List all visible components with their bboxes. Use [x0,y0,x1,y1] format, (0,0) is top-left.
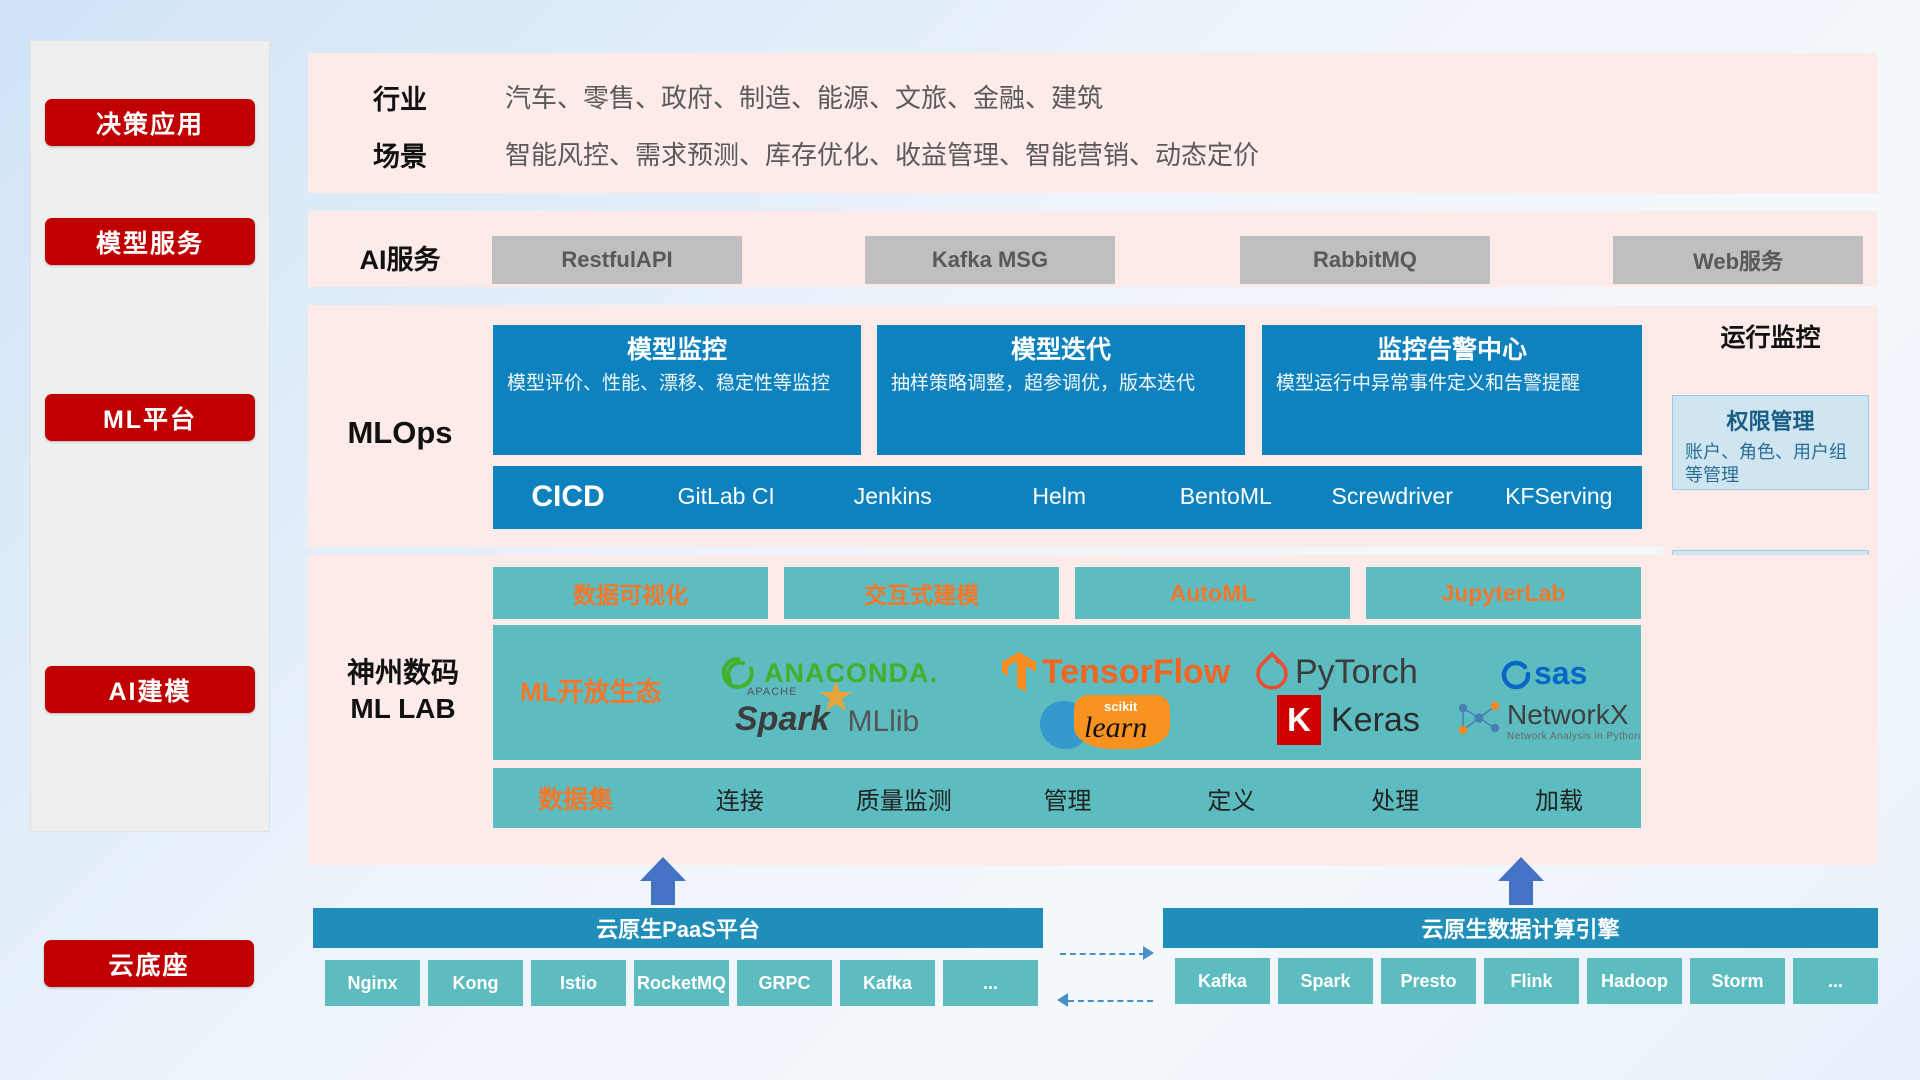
card-title: 监控告警中心 [1276,335,1628,365]
chip-label: RabbitMQ [1313,247,1417,273]
ml-eco-label: ML开放生态 [520,672,662,709]
scene-value: 智能风控、需求预测、库存优化、收益管理、智能营销、动态定价 [505,135,1259,172]
paas-chip-kafka[interactable]: Kafka [840,960,935,1006]
cicd-item-bentoml[interactable]: BentoML [1143,466,1310,508]
spark-text: Spark [735,700,830,739]
rail-label: AI建模 [108,672,191,708]
chip-label: ... [1828,972,1843,991]
spark-mllib-logo: APACHE Spark MLlib [735,700,919,739]
engine-chip-kafka[interactable]: Kafka [1175,958,1270,1004]
paas-chip-istio[interactable]: Istio [531,960,626,1006]
dataset-item-process[interactable]: 处理 [1313,781,1477,816]
scene-label: 场景 [345,135,455,174]
dataset-item-load[interactable]: 加载 [1477,781,1641,816]
networkx-text: NetworkX [1507,699,1641,731]
ml-lab-name-line1: 神州数码 [318,655,488,691]
dataset-row: 数据集 连接 质量监测 管理 定义 处理 加载 [493,768,1641,828]
ai-service-chip-kafka-msg[interactable]: Kafka MSG [865,236,1115,284]
dataset-item-define[interactable]: 定义 [1149,781,1313,816]
chip-label: Istio [560,974,597,993]
chip-label: RocketMQ [637,974,726,993]
lab-chip-jupyterlab[interactable]: JupyterLab [1366,567,1641,619]
mllib-text: MLlib [848,705,920,739]
lab-chip-automl[interactable]: AutoML [1075,567,1350,619]
chip-label: RestfulAPI [561,247,672,273]
pytorch-text: PyTorch [1295,653,1418,692]
cicd-item-kfserving[interactable]: KFServing [1476,466,1643,508]
networkx-tagline: Network Analysis in Python [1507,731,1641,742]
industry-scene-band [308,53,1878,193]
ml-lab-name: 神州数码 ML LAB [318,655,488,728]
ai-service-chip-web[interactable]: Web服务 [1613,236,1863,284]
paas-chip-kong[interactable]: Kong [428,960,523,1006]
mlops-card-model-monitor[interactable]: 模型监控 模型评价、性能、漂移、稳定性等监控 [493,325,861,455]
rail-item-ai-modeling[interactable]: AI建模 [45,666,255,713]
cicd-bar: CICD GitLab CI Jenkins Helm BentoML Scre… [493,466,1642,529]
tensorflow-text: TensorFlow [1042,653,1230,692]
monitoring-card-permission[interactable]: 权限管理 账户、角色、用户组等管理 [1672,395,1869,490]
rail-label: 模型服务 [96,224,204,260]
industry-label: 行业 [345,78,455,117]
monitoring-title: 运行监控 [1663,318,1878,354]
mlops-card-model-iteration[interactable]: 模型迭代 抽样策略调整，超参调优，版本迭代 [877,325,1245,455]
engine-chip-flink[interactable]: Flink [1484,958,1579,1004]
ai-service-chip-restfulapi[interactable]: RestfulAPI [492,236,742,284]
engine-chip-presto[interactable]: Presto [1381,958,1476,1004]
scikit-learn-logo: scikit learn [1040,695,1230,750]
chip-label: AutoML [1170,580,1256,607]
rail-label: ML平台 [103,400,197,436]
card-desc: 抽样策略调整，超参调优，版本迭代 [891,371,1231,397]
keras-text: Keras [1331,701,1420,740]
rail-item-ml-platform[interactable]: ML平台 [45,394,255,441]
chip-label: Presto [1400,972,1456,991]
dataset-label: 数据集 [493,780,658,816]
chip-label: Hadoop [1601,972,1668,991]
chip-label: 交互式建模 [864,576,979,610]
paas-chip-rocketmq[interactable]: RocketMQ [634,960,729,1006]
ai-service-label: AI服务 [340,238,460,277]
rail-item-decision-app[interactable]: 决策应用 [45,99,255,146]
ml-lab-name-line2: ML LAB [318,691,488,727]
chip-label: Web服务 [1693,244,1783,276]
chip-label: GRPC [758,974,810,993]
chip-label: 数据可视化 [573,576,688,610]
rail-item-model-service[interactable]: 模型服务 [45,218,255,265]
learn-text: learn [1084,711,1147,745]
engine-chip-more[interactable]: ... [1793,958,1878,1004]
rail-label: 云底座 [108,946,189,982]
pytorch-mark [1255,652,1289,692]
left-rail: 决策应用 模型服务 ML平台 AI建模 [30,40,270,832]
industry-value: 汽车、零售、政府、制造、能源、文旅、金融、建筑 [505,78,1103,115]
cicd-item-screwdriver[interactable]: Screwdriver [1309,466,1476,508]
keras-mark: K [1277,695,1321,745]
chip-label: ... [983,974,998,993]
chip-label: Kafka MSG [932,247,1048,273]
card-title: 模型迭代 [891,335,1231,365]
spark-apache-text: APACHE [747,686,797,698]
ai-service-chip-rabbitmq[interactable]: RabbitMQ [1240,236,1490,284]
dataset-item-quality[interactable]: 质量监测 [822,781,986,816]
cicd-item-jenkins[interactable]: Jenkins [810,466,977,508]
paas-title-bar: 云原生PaaS平台 [313,908,1043,948]
pytorch-logo: PyTorch [1255,652,1418,692]
card-desc: 模型评价、性能、漂移、稳定性等监控 [507,371,847,397]
dataset-item-connect[interactable]: 连接 [658,781,822,816]
mlops-card-alert-center[interactable]: 监控告警中心 模型运行中异常事件定义和告警提醒 [1262,325,1642,455]
sas-mark [1500,658,1532,690]
engine-chip-hadoop[interactable]: Hadoop [1587,958,1682,1004]
tensorflow-logo: TensorFlow [1000,650,1230,694]
sas-logo: sas [1500,655,1587,692]
chip-label: Kafka [863,974,912,993]
engine-chip-spark[interactable]: Spark [1278,958,1373,1004]
card-desc: 账户、角色、用户组等管理 [1685,441,1856,488]
chip-label: Kafka [1198,972,1247,991]
engine-chip-storm[interactable]: Storm [1690,958,1785,1004]
keras-k-text: K [1287,701,1311,739]
tensorflow-mark [1000,650,1038,694]
card-title: 模型监控 [507,335,847,365]
spark-star-mark [819,680,853,714]
paas-chip-more[interactable]: ... [943,960,1038,1006]
chip-label: Flink [1510,972,1552,991]
paas-chip-nginx[interactable]: Nginx [325,960,420,1006]
chip-label: Kong [453,974,499,993]
dataset-item-manage[interactable]: 管理 [986,781,1150,816]
mlops-label: MLOps [320,415,480,451]
networkx-logo: NetworkX Network Analysis in Python [1455,698,1641,742]
card-desc: 模型运行中异常事件定义和告警提醒 [1276,371,1628,397]
chip-label: Nginx [347,974,397,993]
chip-label: Storm [1711,972,1763,991]
cicd-label: CICD [493,466,643,514]
keras-logo: K Keras [1277,695,1420,745]
engine-title: 云原生数据计算引擎 [1421,912,1619,944]
lab-chip-interactive[interactable]: 交互式建模 [784,567,1059,619]
architecture-diagram: 决策应用 模型服务 ML平台 AI建模 云底座 行业 汽车、零售、政府、制造、能… [0,0,1920,1080]
chip-label: Spark [1300,972,1350,991]
card-title: 权限管理 [1685,404,1856,436]
sas-text: sas [1534,655,1587,692]
cicd-item-helm[interactable]: Helm [976,466,1143,508]
cicd-item-gitlab-ci[interactable]: GitLab CI [643,466,810,508]
paas-title: 云原生PaaS平台 [596,912,760,944]
chip-label: JupyterLab [1442,580,1566,607]
networkx-mark [1455,698,1501,742]
engine-title-bar: 云原生数据计算引擎 [1163,908,1878,948]
rail-item-cloud-foundation[interactable]: 云底座 [44,940,254,987]
paas-chip-grpc[interactable]: GRPC [737,960,832,1006]
lab-chip-data-viz[interactable]: 数据可视化 [493,567,768,619]
rail-label: 决策应用 [96,105,204,141]
